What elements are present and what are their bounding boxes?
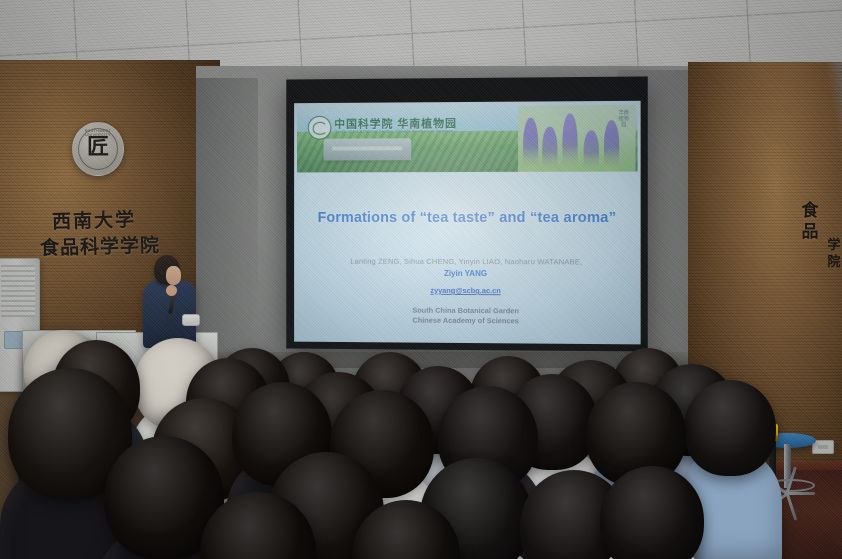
wall-text-university: 西南大学 xyxy=(52,205,137,234)
scbg-logo-icon xyxy=(308,116,332,140)
slide-organization: South China Botanical Garden Chinese Aca… xyxy=(294,305,641,327)
right-wall-vertical-text-2: 学院 xyxy=(826,236,842,270)
slide-banner-image: 华南植物园 中国科学院 华南植物园 South China Botanical … xyxy=(297,105,638,173)
presenter-hand xyxy=(166,285,177,296)
banner-logo-english: South China Botanical Garden, Chinese Ac… xyxy=(335,129,453,134)
emblem-glyph: 匠 xyxy=(73,135,123,159)
slide-authors: Lanting ZENG, Sihua CHENG, Yinyin LIAO, … xyxy=(294,257,641,267)
wall-text-college: 食品科学学院 xyxy=(40,231,161,261)
projection-screen-surface: 华南植物园 中国科学院 华南植物园 South China Botanical … xyxy=(294,101,641,345)
slide-title: Formations of “tea taste” and “tea aroma… xyxy=(294,210,641,226)
banner-iris-flowers: 华南植物园 xyxy=(518,105,635,172)
audience-head xyxy=(684,380,776,476)
ac-vent xyxy=(1,265,35,317)
slide-email-link[interactable]: zyyang@scbg.ac.cn xyxy=(294,285,641,296)
university-emblem: SOUTHWEST UNIVERSITY 匠 xyxy=(72,122,124,176)
banner-vertical-caption: 华南植物园 xyxy=(617,110,631,128)
banner-building xyxy=(324,138,411,161)
lecture-hall-photo: SOUTHWEST UNIVERSITY 匠 西南大学 食品科学学院 食品 学院… xyxy=(0,0,842,559)
organization-line-2: Chinese Academy of Sciences xyxy=(294,315,641,327)
slide-presenting-author: Ziyin YANG xyxy=(294,268,641,278)
projection-screen: 华南植物园 中国科学院 华南植物园 South China Botanical … xyxy=(286,76,647,351)
right-wall-vertical-text: 食品 xyxy=(800,200,820,242)
presenter-clicker xyxy=(182,314,200,326)
presentation-slide: 华南植物园 中国科学院 华南植物园 South China Botanical … xyxy=(294,101,641,345)
presenter-face xyxy=(166,266,181,285)
